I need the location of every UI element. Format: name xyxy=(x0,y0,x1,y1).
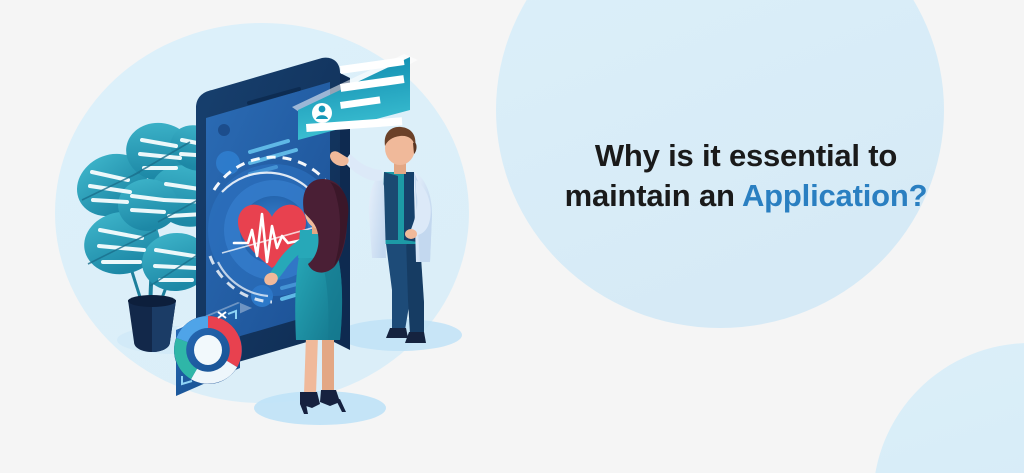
headline-accent: Application? xyxy=(742,178,927,213)
headline-line-1: Why is it essential to xyxy=(536,136,956,176)
phone-camera xyxy=(218,124,230,136)
headline-line-2: maintain an Application? xyxy=(536,176,956,216)
isometric-health-app-illustration xyxy=(0,0,520,473)
hero-banner: Why is it essential to maintain an Appli… xyxy=(0,0,1024,473)
lab-coat xyxy=(369,174,386,258)
avatar xyxy=(312,103,332,123)
headline-line-2-plain: maintain an xyxy=(565,178,742,213)
page-headline: Why is it essential to maintain an Appli… xyxy=(536,136,956,216)
